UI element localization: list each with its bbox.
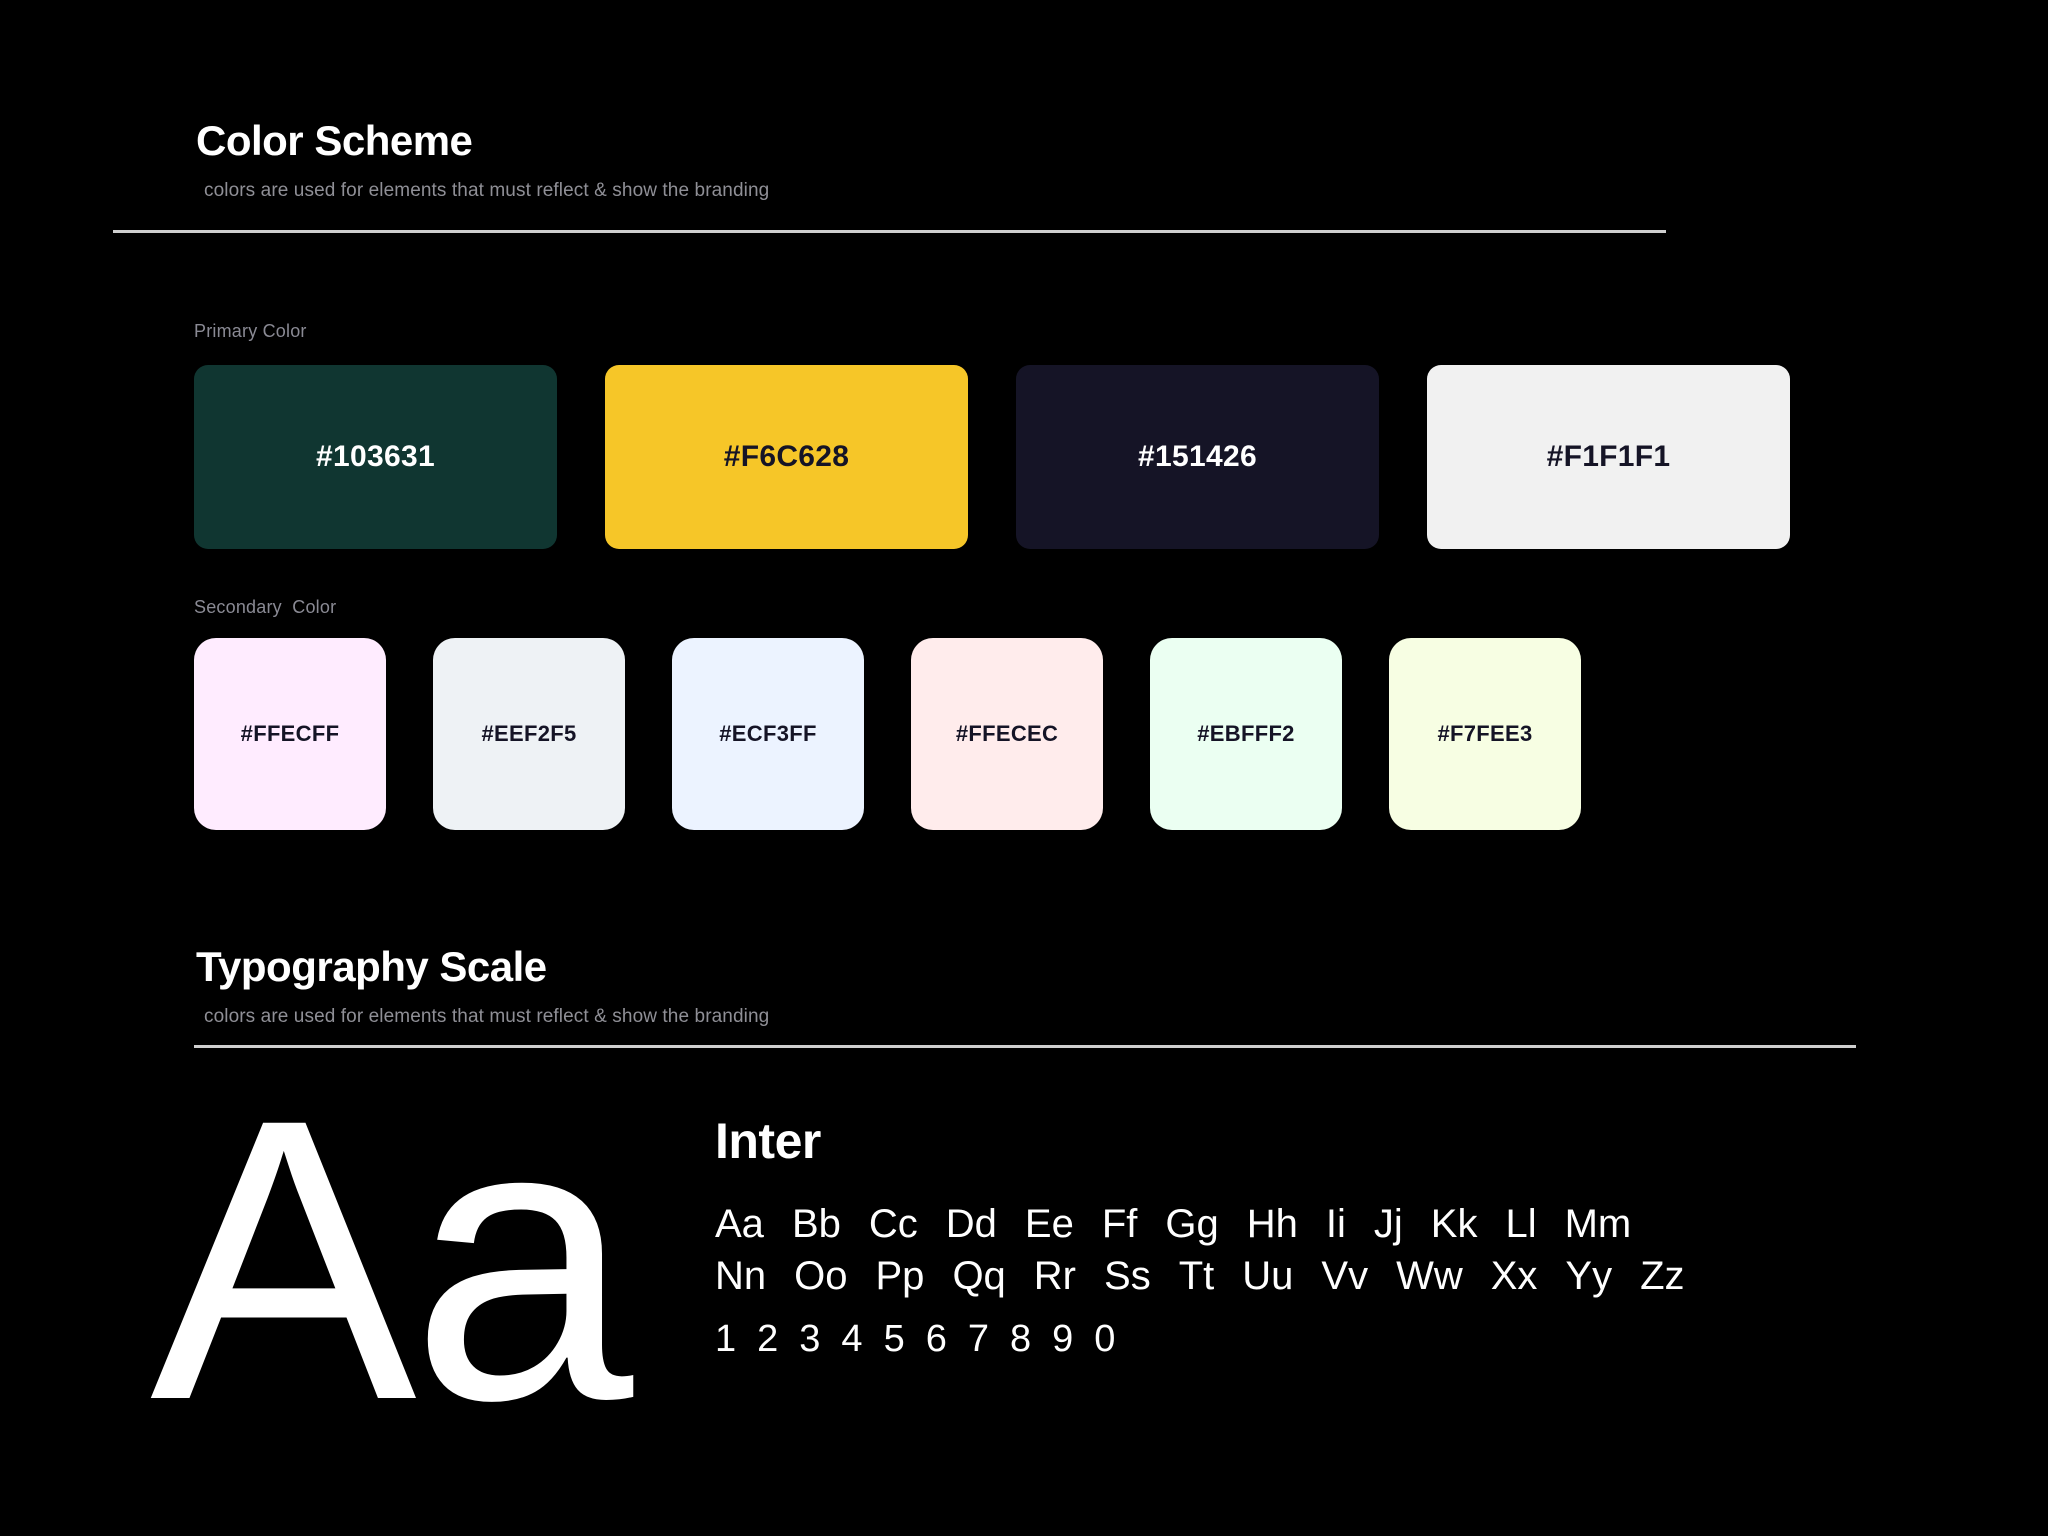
glyph-row-uppercase-a-m: AaBbCcDdEeFfGgHhIiJjKkLlMm xyxy=(715,1202,1631,1247)
glyph: Ll xyxy=(1505,1202,1536,1247)
glyph: Rr xyxy=(1034,1254,1076,1299)
color-swatch[interactable]: #F6C628 xyxy=(605,365,968,549)
typography-title: Typography Scale xyxy=(196,944,769,990)
glyph: Jj xyxy=(1374,1202,1403,1247)
glyph: Ww xyxy=(1396,1254,1463,1299)
swatch-hex-label: #ECF3FF xyxy=(719,721,816,747)
glyph: Tt xyxy=(1179,1254,1215,1299)
swatch-hex-label: #F7FEE3 xyxy=(1437,721,1532,747)
glyph-row-uppercase-n-z: NnOoPpQqRrSsTtUuVvWwXxYyZz xyxy=(715,1254,1685,1299)
glyph: 3 xyxy=(799,1318,821,1361)
glyph: Uu xyxy=(1242,1254,1293,1299)
typography-subtitle: colors are used for elements that must r… xyxy=(204,1006,769,1029)
color-swatch[interactable]: #EBFFF2 xyxy=(1150,638,1342,830)
color-scheme-subtitle: colors are used for elements that must r… xyxy=(204,180,769,203)
secondary-color-label: Secondary Color xyxy=(194,597,336,618)
font-specimen-aa: Aa xyxy=(150,1060,627,1460)
glyph-row-numerals: 1234567890 xyxy=(715,1318,1116,1361)
glyph: Nn xyxy=(715,1254,766,1299)
primary-color-swatch-row: #103631 #F6C628 #151426 #F1F1F1 xyxy=(194,365,1790,549)
glyph: 6 xyxy=(926,1318,948,1361)
color-swatch[interactable]: #F7FEE3 xyxy=(1389,638,1581,830)
font-family-name: Inter xyxy=(715,1112,821,1170)
glyph: 7 xyxy=(968,1318,990,1361)
glyph: Cc xyxy=(869,1202,918,1247)
glyph: Pp xyxy=(876,1254,925,1299)
glyph: Hh xyxy=(1247,1202,1298,1247)
color-swatch[interactable]: #151426 xyxy=(1016,365,1379,549)
typography-header: Typography Scale colors are used for ele… xyxy=(196,944,769,1029)
glyph: 4 xyxy=(841,1318,863,1361)
swatch-hex-label: #FFECEC xyxy=(956,721,1058,747)
glyph: Kk xyxy=(1431,1202,1478,1247)
glyph: Aa xyxy=(715,1202,764,1247)
glyph: Ee xyxy=(1025,1202,1074,1247)
color-swatch[interactable]: #FFECEC xyxy=(911,638,1103,830)
color-swatch[interactable]: #FFECFF xyxy=(194,638,386,830)
color-swatch[interactable]: #EEF2F5 xyxy=(433,638,625,830)
glyph: Bb xyxy=(792,1202,841,1247)
swatch-hex-label: #F1F1F1 xyxy=(1547,440,1671,474)
glyph: Xx xyxy=(1491,1254,1538,1299)
glyph: Mm xyxy=(1565,1202,1632,1247)
color-swatch[interactable]: #ECF3FF xyxy=(672,638,864,830)
swatch-hex-label: #103631 xyxy=(316,440,435,474)
glyph: 0 xyxy=(1094,1318,1116,1361)
glyph: Oo xyxy=(794,1254,847,1299)
glyph: Dd xyxy=(946,1202,997,1247)
swatch-hex-label: #EEF2F5 xyxy=(481,721,576,747)
glyph: Gg xyxy=(1165,1202,1218,1247)
color-swatch[interactable]: #103631 xyxy=(194,365,557,549)
color-swatch[interactable]: #F1F1F1 xyxy=(1427,365,1790,549)
swatch-hex-label: #F6C628 xyxy=(724,440,850,474)
glyph: 1 xyxy=(715,1318,737,1361)
glyph: 9 xyxy=(1052,1318,1074,1361)
primary-color-label: Primary Color xyxy=(194,321,307,342)
color-scheme-header: Color Scheme colors are used for element… xyxy=(196,118,769,203)
glyph: 5 xyxy=(884,1318,906,1361)
glyph: Zz xyxy=(1640,1254,1684,1299)
color-scheme-divider xyxy=(113,230,1666,233)
glyph: Vv xyxy=(1321,1254,1368,1299)
glyph: 8 xyxy=(1010,1318,1032,1361)
glyph: Ss xyxy=(1104,1254,1151,1299)
style-guide-page: Color Scheme colors are used for element… xyxy=(0,0,2048,1536)
swatch-hex-label: #151426 xyxy=(1138,440,1257,474)
color-scheme-title: Color Scheme xyxy=(196,118,769,164)
glyph: Ff xyxy=(1102,1202,1138,1247)
typography-body: Aa Inter AaBbCcDdEeFfGgHhIiJjKkLlMm NnOo… xyxy=(150,1090,1950,1510)
secondary-color-swatch-row: #FFECFF #EEF2F5 #ECF3FF #FFECEC #EBFFF2 … xyxy=(194,638,1581,830)
glyph: Ii xyxy=(1326,1202,1346,1247)
glyph: 2 xyxy=(757,1318,779,1361)
swatch-hex-label: #FFECFF xyxy=(241,721,340,747)
glyph: Yy xyxy=(1565,1254,1612,1299)
swatch-hex-label: #EBFFF2 xyxy=(1197,721,1294,747)
glyph: Qq xyxy=(952,1254,1005,1299)
